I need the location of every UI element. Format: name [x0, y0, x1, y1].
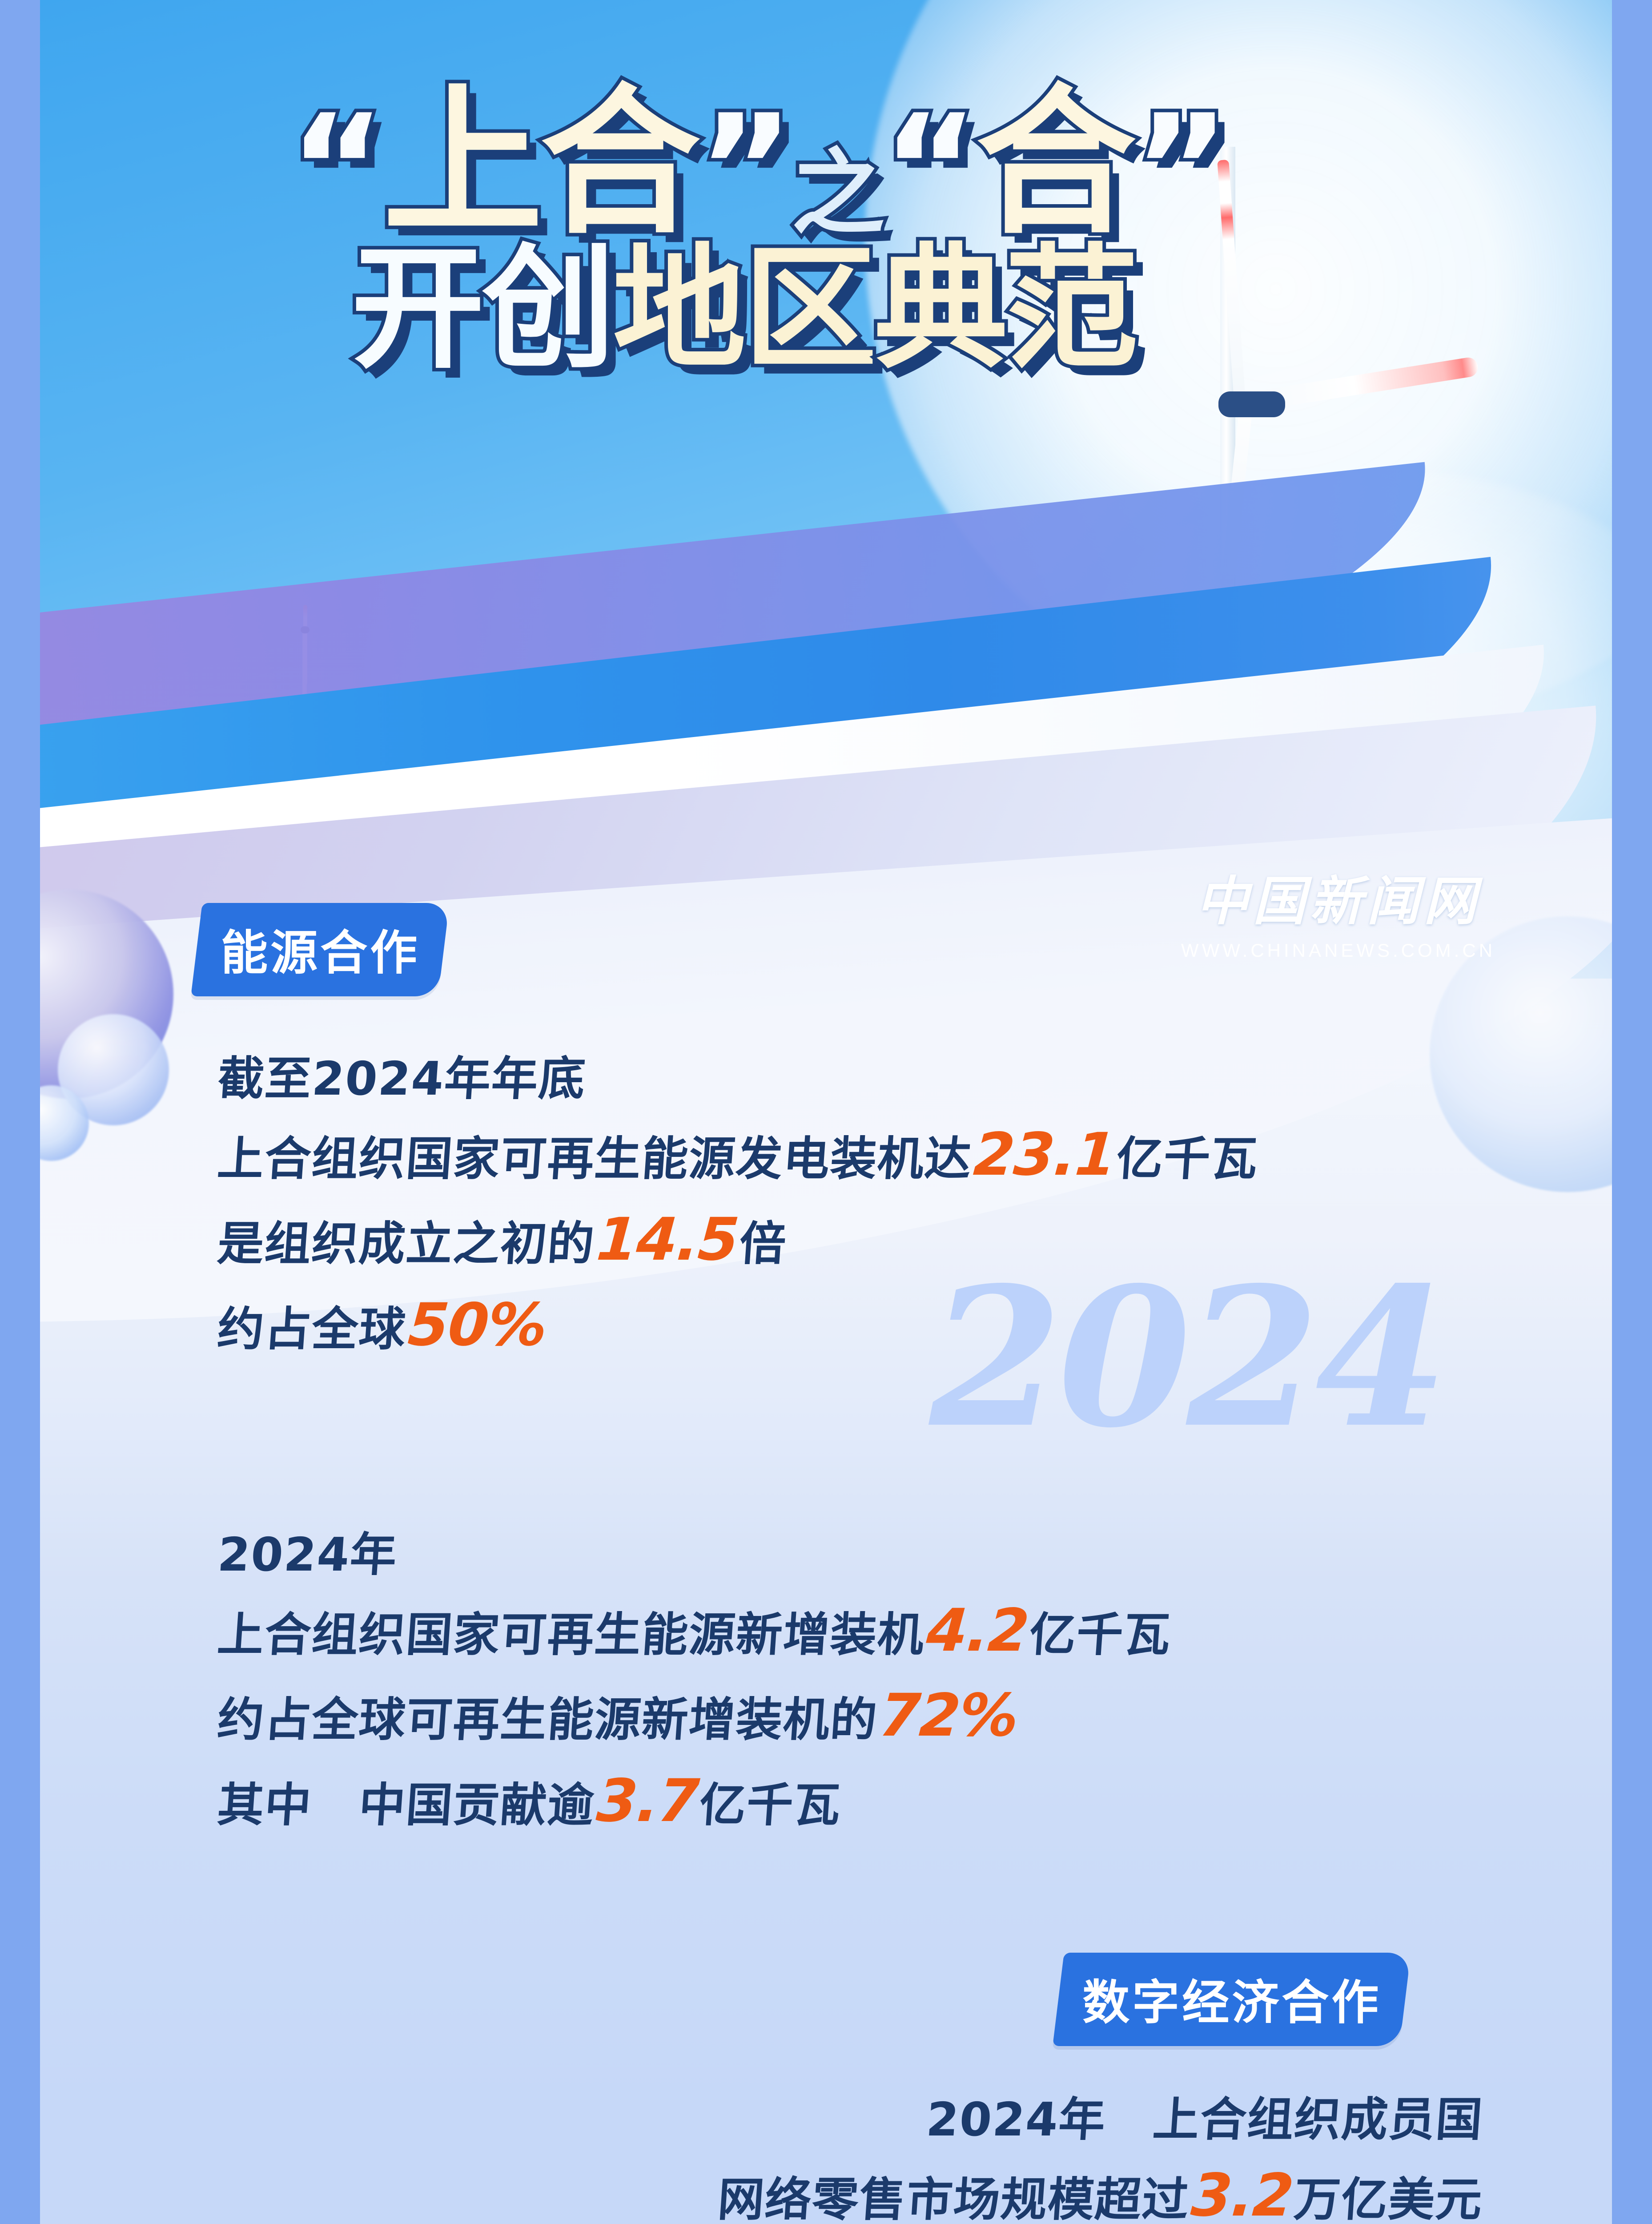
line-text: 亿千瓦 — [1115, 1132, 1260, 1186]
logo-website-url: WWW.CHINANEWS.COM.CN — [1181, 940, 1495, 961]
title-glyph: 范 — [1005, 248, 1136, 371]
infographic-poster: “上合”之“合” 开创地区典范 中国新闻网 WWW.CHINANEWS.COM.… — [0, 0, 1652, 2224]
line-text: 2024年 — [216, 1527, 399, 1582]
section-badge-digital-economy: 数字经济合作 — [1053, 1953, 1411, 2046]
line-text: 是组织成立之初的 — [216, 1217, 597, 1271]
statistic-line: 上合组织国家可再生能源新增装机4.2亿千瓦 — [215, 1588, 1174, 1673]
line-text: 约占全球 — [216, 1302, 408, 1356]
line-text: 约占全球可再生能源新增装机的 — [216, 1692, 880, 1747]
title-glyph: ” — [1133, 101, 1227, 237]
statistic-line: 是组织成立之初的14.5倍 — [215, 1197, 1261, 1282]
title-glyph: 区 — [744, 248, 874, 371]
line-text: 亿千瓦 — [698, 1778, 843, 1832]
line-text: 截至2024年年底 — [216, 1052, 588, 1106]
title-glyph: 开 — [351, 248, 482, 371]
line-text: 上合组织国家可再生能源发电装机达 — [216, 1132, 974, 1186]
title-glyph: 合 — [976, 89, 1133, 236]
statistic-line: 约占全球可再生能源新增装机的72% — [215, 1673, 1174, 1758]
energy-paragraph-1: 截至2024年年底上合组织国家可再生能源发电装机达23.1亿千瓦是组织成立之初的… — [218, 1045, 1258, 1368]
highlight-figure: 14.5 — [593, 1205, 742, 1274]
title-glyph: 合 — [540, 89, 698, 236]
line-text: 倍 — [738, 1217, 789, 1271]
title-glyph: “ — [289, 101, 383, 237]
poster-title: “上合”之“合” 开创地区典范 — [40, 89, 1612, 371]
digital-paragraph-1: 2024年 上合组织成员国网络零售市场规模超过3.2万亿美元 — [327, 2086, 1483, 2224]
poster-card: “上合”之“合” 开创地区典范 中国新闻网 WWW.CHINANEWS.COM.… — [40, 0, 1612, 2224]
chinanews-logo: 中国新闻网 WWW.CHINANEWS.COM.CN — [1181, 858, 1495, 961]
statistic-line: 网络零售市场规模超过3.2万亿美元 — [324, 2153, 1486, 2224]
highlight-figure: 3.2 — [1187, 2161, 1297, 2224]
turbine-hub — [1218, 391, 1285, 417]
highlight-figure: 4.2 — [923, 1596, 1033, 1665]
title-line-1: “上合”之“合” — [40, 89, 1612, 236]
highlight-figure: 72% — [876, 1681, 1022, 1750]
title-glyph: ” — [698, 101, 792, 237]
line-text: 其中 中国贡献逾 — [216, 1778, 597, 1832]
statistic-line: 2024年 上合组织成员国 — [325, 2086, 1486, 2153]
statistic-line: 上合组织国家可再生能源发电装机达23.1亿千瓦 — [215, 1112, 1261, 1197]
statistic-line: 约占全球50% — [215, 1283, 1261, 1368]
highlight-figure: 3.7 — [593, 1767, 703, 1835]
title-glyph: 典 — [874, 248, 1005, 371]
logo-brand-name: 中国新闻网 — [1181, 858, 1495, 935]
line-text: 网络零售市场规模超过 — [716, 2172, 1191, 2224]
section-badge-energy: 能源合作 — [191, 903, 450, 996]
section-badge-energy-label: 能源合作 — [221, 915, 420, 983]
section-badge-digital-economy-label: 数字经济合作 — [1082, 1964, 1381, 2033]
highlight-figure: 23.1 — [970, 1120, 1119, 1189]
title-glyph: 上 — [383, 89, 540, 236]
statistic-line: 截至2024年年底 — [216, 1045, 1261, 1112]
statistic-line: 其中 中国贡献逾3.7亿千瓦 — [215, 1759, 1174, 1844]
title-line-2: 开创地区典范 — [40, 248, 1612, 371]
title-glyph: 地 — [613, 248, 744, 371]
energy-paragraph-2: 2024年上合组织国家可再生能源新增装机4.2亿千瓦约占全球可再生能源新增装机的… — [218, 1521, 1171, 1844]
line-text: 亿千瓦 — [1028, 1608, 1173, 1662]
title-glyph: 之 — [792, 150, 882, 236]
title-glyph: “ — [882, 101, 976, 237]
title-glyph: 创 — [482, 248, 613, 371]
statistic-line: 2024年 — [216, 1521, 1174, 1588]
line-text: 上合组织国家可再生能源新增装机 — [216, 1608, 927, 1662]
line-text: 万亿美元 — [1292, 2172, 1485, 2224]
line-text: 2024年 上合组织成员国 — [924, 2092, 1485, 2147]
highlight-figure: 50% — [404, 1291, 551, 1359]
